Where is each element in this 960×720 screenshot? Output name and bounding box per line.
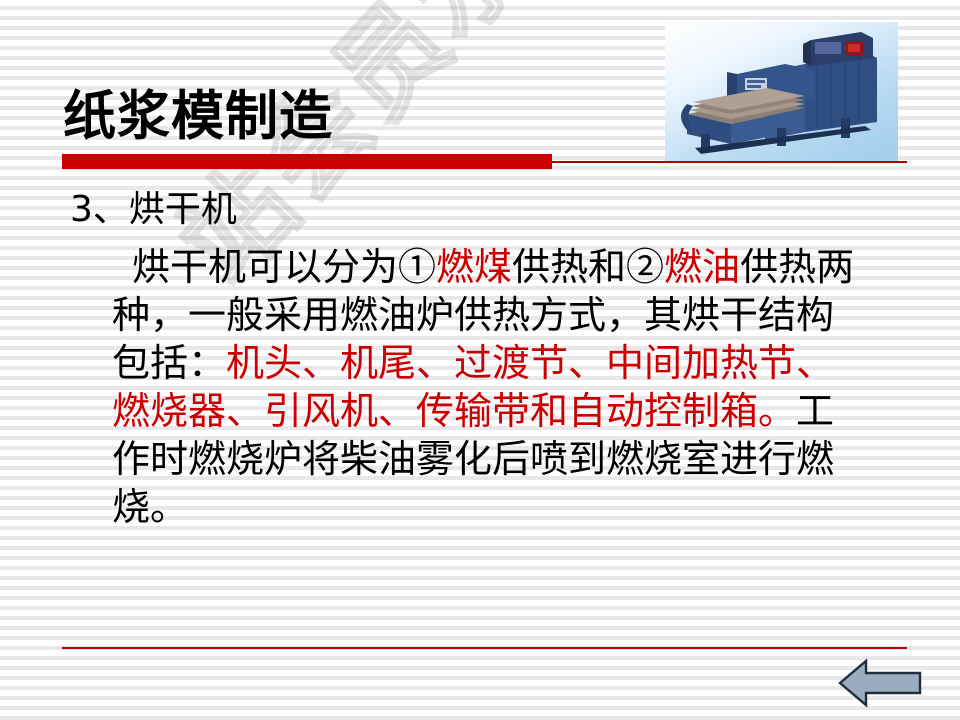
body-line: 包括：机头、机尾、过渡节、中间加热节、 xyxy=(112,339,922,387)
dryer-machine-photo xyxy=(665,22,898,162)
body-text-plain: 工 xyxy=(796,389,834,433)
dryer-illustration xyxy=(665,22,898,162)
body-line: 种，一般采用燃油炉供热方式，其烘干结构 xyxy=(112,291,922,339)
page-title: 纸浆模制造 xyxy=(63,85,333,147)
footer-rule xyxy=(62,647,907,649)
body-text-plain: 供热两 xyxy=(740,245,854,289)
section-heading-label: 烘干机 xyxy=(129,189,237,230)
body-text-plain: 烧。 xyxy=(112,485,188,529)
previous-slide-arrow[interactable] xyxy=(836,657,924,709)
title-accent-bar xyxy=(62,154,552,169)
section-heading: 3、烘干机 xyxy=(70,188,237,232)
body-line: 作时燃烧炉将柴油雾化后喷到燃烧室进行燃 xyxy=(112,435,922,483)
body-line: 烘干机可以分为①燃煤供热和②燃油供热两 xyxy=(112,243,922,291)
body-text-emphasis: 燃煤 xyxy=(436,245,512,289)
body-text-plain: 烘干机可以分为① xyxy=(132,245,436,289)
body-text-emphasis: 机头、机尾、过渡节、中间加热节、 xyxy=(226,341,834,385)
slide-canvas: 站会员水印 xyxy=(0,0,960,720)
body-line: 烧。 xyxy=(112,483,922,531)
body-text-emphasis: 燃油 xyxy=(664,245,740,289)
left-arrow-icon[interactable] xyxy=(836,657,924,709)
body-text-emphasis: 燃烧器、引风机、传输带和自动控制箱。 xyxy=(112,389,796,433)
body-line: 燃烧器、引风机、传输带和自动控制箱。工 xyxy=(112,387,922,435)
body-text: 烘干机可以分为①燃煤供热和②燃油供热两种，一般采用燃油炉供热方式，其烘干结构包括… xyxy=(112,243,922,531)
body-text-plain: 包括： xyxy=(112,341,226,385)
body-text-plain: 作时燃烧炉将柴油雾化后喷到燃烧室进行燃 xyxy=(112,437,834,481)
section-number: 3、 xyxy=(70,189,129,230)
body-text-plain: 供热和② xyxy=(512,245,664,289)
body-text-plain: 种，一般采用燃油炉供热方式，其烘干结构 xyxy=(112,293,834,337)
